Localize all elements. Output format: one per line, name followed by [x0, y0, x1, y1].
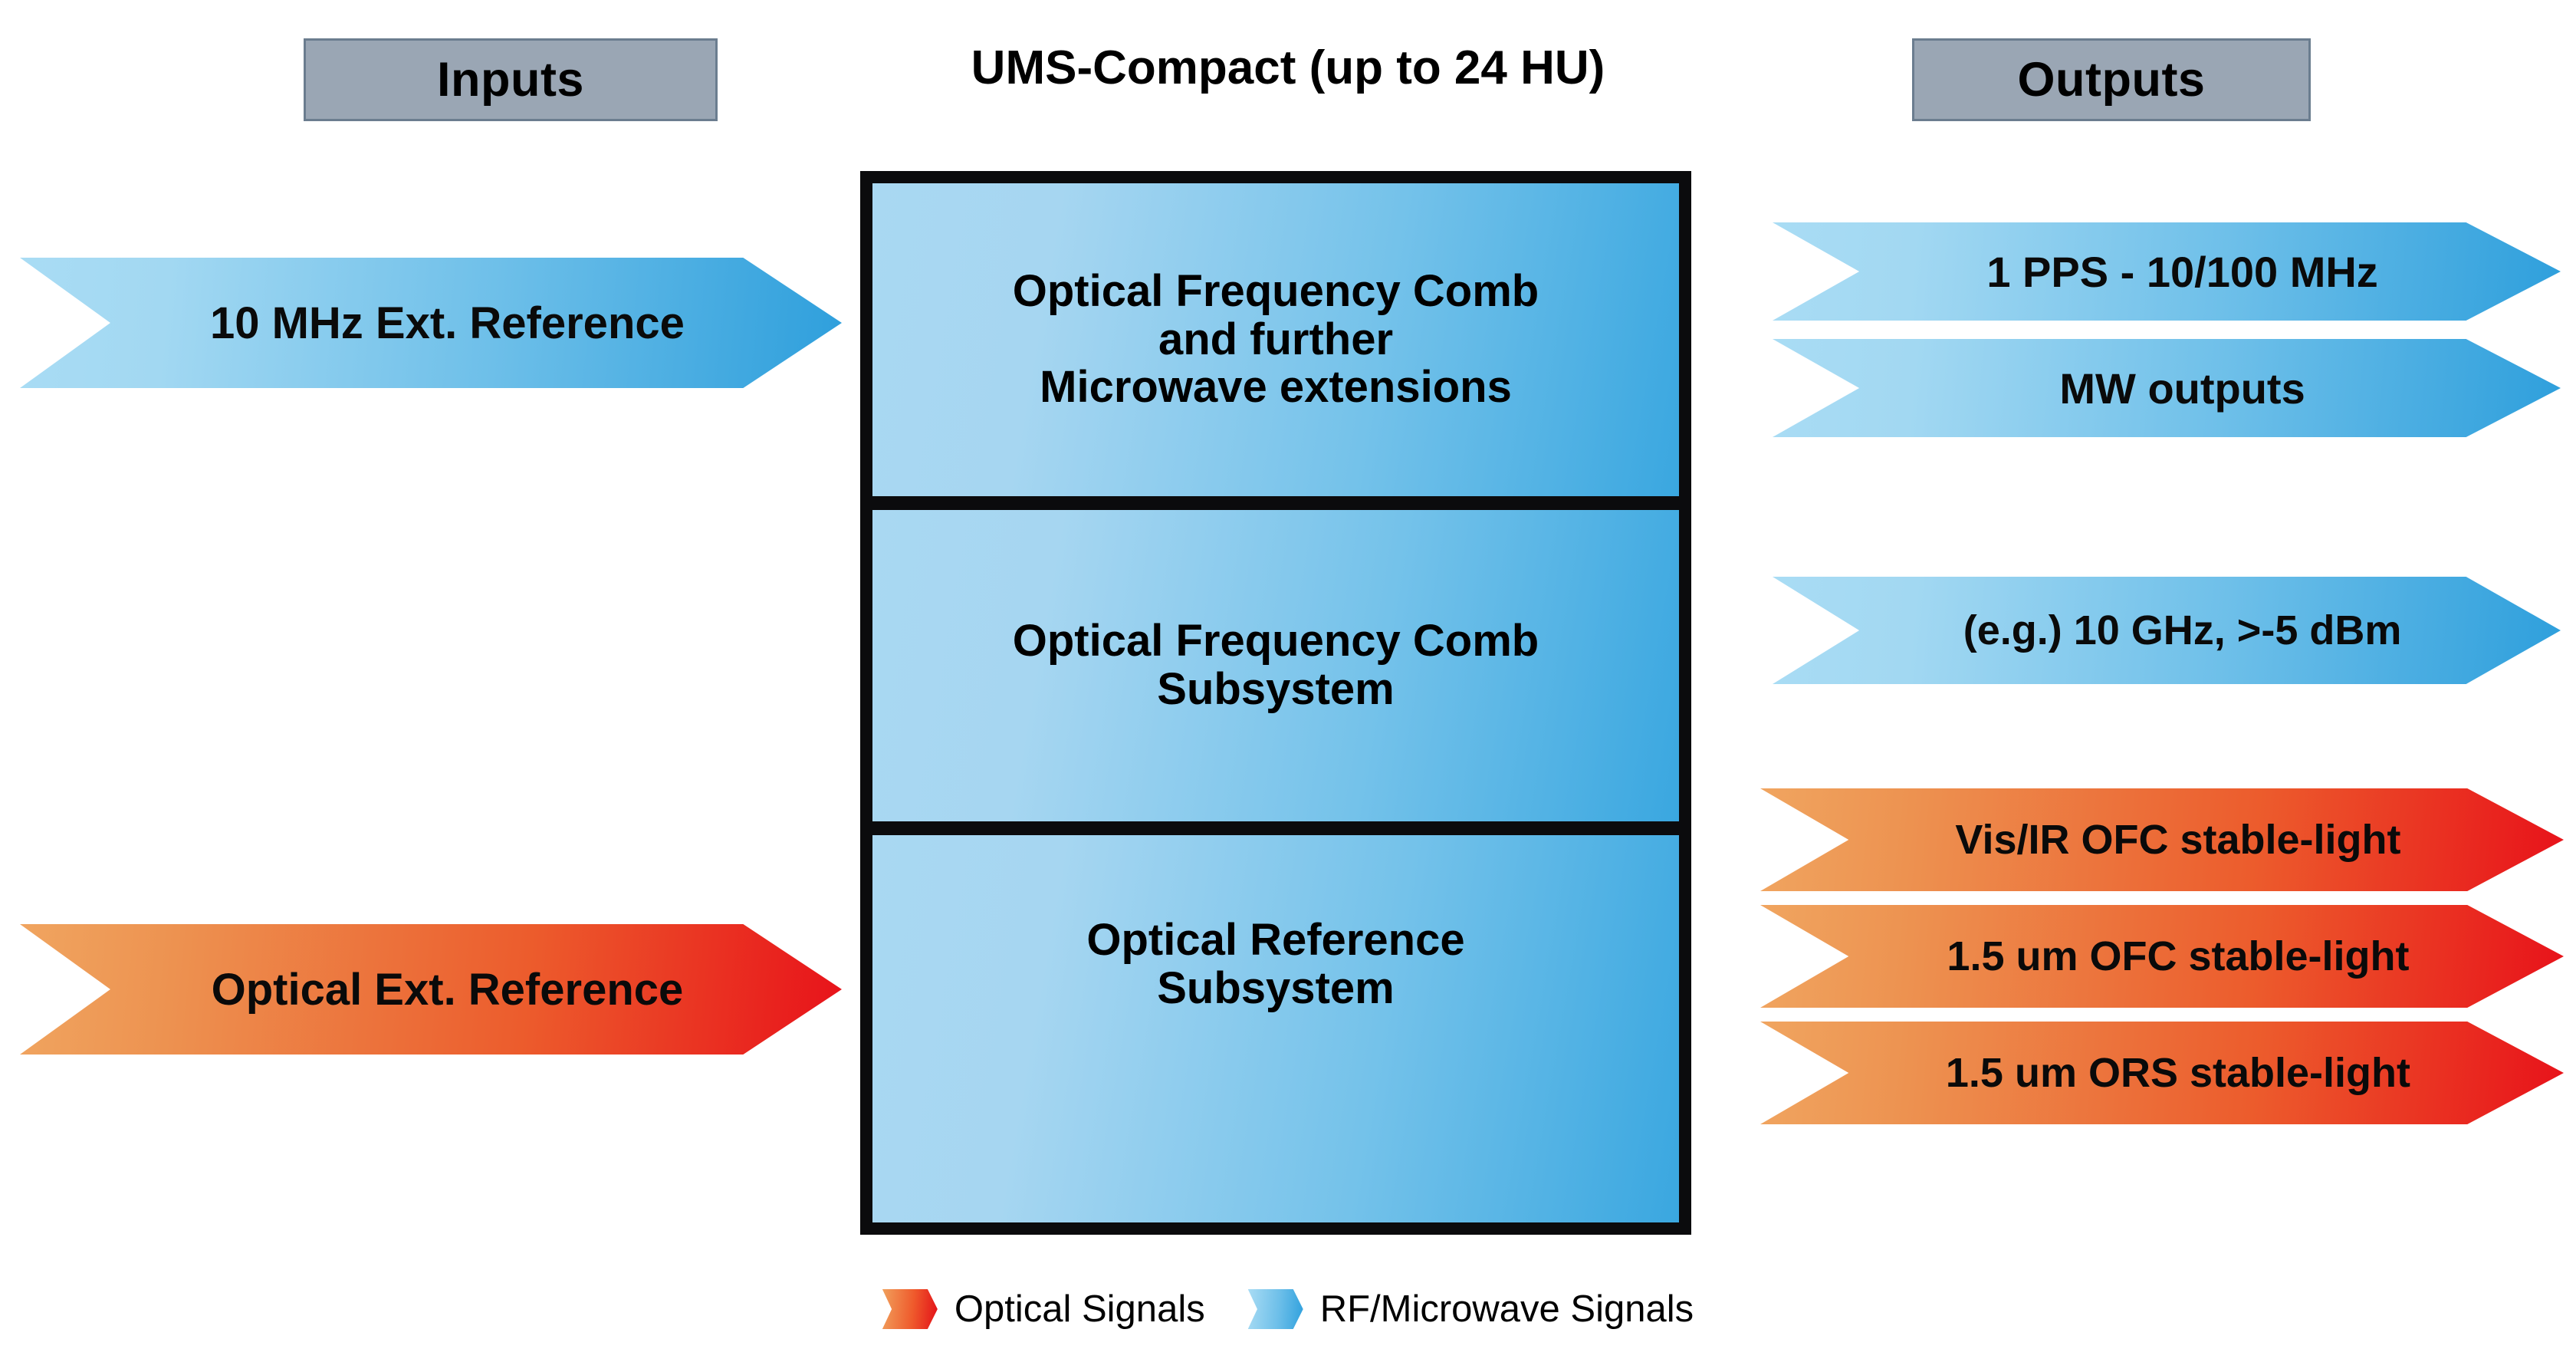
outputs-column-header: Outputs [1912, 38, 2311, 121]
output-arrow-1-5-um-ors-stable-light: 1.5 um ORS stable-light [1760, 1022, 2564, 1124]
subsystem-label: Optical Frequency CombSubsystem [1013, 617, 1539, 713]
output-arrow-label: (e.g.) 10 GHz, >-5 dBm [1932, 607, 2402, 654]
optical-arrow-swatch-icon [882, 1289, 938, 1329]
subsystem-label: Optical Frequency Comband furtherMicrowa… [1013, 268, 1539, 412]
diagram-canvas: Inputs UMS-Compact (up to 24 HU) Outputs… [0, 0, 2576, 1349]
diagram-title-label: UMS-Compact (up to 24 HU) [971, 41, 1605, 95]
output-arrow-label: 1.5 um OFC stable-light [1915, 933, 2410, 980]
legend-item-label: RF/Microwave Signals [1320, 1288, 1694, 1331]
output-arrow-vis-ir-ofc-stable-light: Vis/IR OFC stable-light [1760, 788, 2564, 891]
output-arrow-1-5-um-ofc-stable-light: 1.5 um OFC stable-light [1760, 905, 2564, 1008]
subsystem-optical-frequency-comb-and-microwave-extensions: Optical Frequency Comband furtherMicrowa… [872, 183, 1679, 496]
input-arrow-label: 10 MHz Ext. Reference [177, 298, 685, 349]
output-arrow-label: Vis/IR OFC stable-light [1924, 816, 2401, 864]
inputs-column-header: Inputs [304, 38, 718, 121]
legend: Optical Signals RF/Microwave Signals [0, 1276, 2576, 1342]
subsystem-label: Optical ReferenceSubsystem [1086, 916, 1464, 1012]
subsystem-optical-frequency-comb: Optical Frequency CombSubsystem [872, 510, 1679, 821]
input-arrow-label: Optical Ext. Reference [179, 964, 684, 1015]
legend-item-rf-microwave-signals: RF/Microwave Signals [1248, 1288, 1694, 1331]
legend-item-label: Optical Signals [955, 1288, 1205, 1331]
output-arrow-label: 1.5 um ORS stable-light [1914, 1049, 2410, 1097]
output-arrow-label: MW outputs [2028, 364, 2305, 413]
outputs-column-header-label: Outputs [2018, 52, 2206, 107]
rf-arrow-swatch-icon [1248, 1289, 1303, 1329]
output-arrow-label: 1 PPS - 10/100 MHz [1955, 247, 2378, 297]
ums-compact-chassis: Optical Frequency Comband furtherMicrowa… [860, 171, 1691, 1235]
input-arrow-optical-ext-reference: Optical Ext. Reference [20, 924, 842, 1055]
output-arrow-10-ghz-minus-5-dbm: (e.g.) 10 GHz, >-5 dBm [1773, 577, 2561, 684]
output-arrow-mw-outputs: MW outputs [1773, 339, 2561, 437]
diagram-title: UMS-Compact (up to 24 HU) [767, 29, 1809, 106]
input-arrow-10mhz-ext-reference: 10 MHz Ext. Reference [20, 258, 842, 388]
output-arrow-1pps-10-100-mhz: 1 PPS - 10/100 MHz [1773, 222, 2561, 321]
inputs-column-header-label: Inputs [437, 52, 584, 107]
legend-item-optical-signals: Optical Signals [882, 1288, 1205, 1331]
subsystem-optical-reference: Optical ReferenceSubsystem [872, 835, 1679, 1222]
